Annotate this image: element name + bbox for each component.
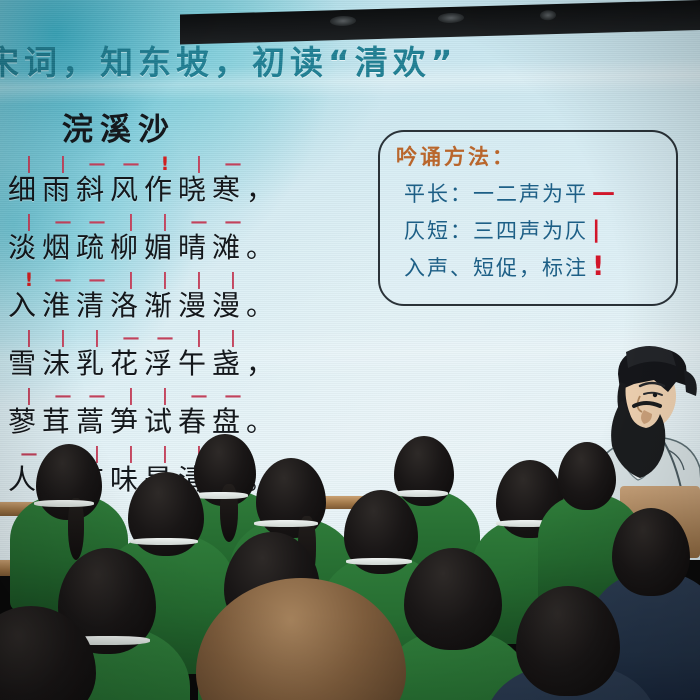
tone-mark: —	[182, 389, 216, 404]
tone-mark: |	[182, 273, 216, 288]
poem-line: | | — — ! | — 细雨斜风作晓寒，	[0, 155, 330, 213]
tone-mark: |	[114, 215, 148, 230]
tone-marks: | | — — ! | —	[6, 155, 330, 172]
tone-mark: —	[46, 273, 80, 288]
tone-mark: |	[216, 273, 250, 288]
collar	[254, 520, 318, 527]
tone-mark: !	[12, 273, 46, 288]
collar	[34, 500, 94, 507]
method-row-text: 平长：一二声为平	[404, 178, 588, 208]
tone-mark: |	[46, 157, 80, 172]
collar	[192, 492, 248, 499]
collar	[394, 490, 448, 497]
tone-mark: —	[114, 157, 148, 172]
tone-mark: |	[12, 389, 46, 404]
collar	[130, 538, 198, 545]
tone-mark: —	[46, 389, 80, 404]
tone-mark: |	[148, 215, 182, 230]
tone-marks: | — — | | — —	[6, 387, 330, 404]
tone-mark: |	[182, 157, 216, 172]
tone-mark: !	[148, 157, 182, 172]
tone-mark: —	[80, 389, 114, 404]
tone-mark: —	[216, 215, 250, 230]
poem-line: ! — — | | | | 入淮清洛渐漫漫。	[0, 271, 330, 329]
chanting-method-box: 吟诵方法： 平长：一二声为平 — 仄短：三四声为仄 | 入声、短促，标注 !	[378, 130, 678, 306]
tone-mark: |	[12, 215, 46, 230]
screenshot-root: 宋词，知东坡，初读“清欢” 浣溪沙 | | — — ! | — 细雨斜风作晓寒，…	[0, 0, 700, 700]
tone-mark: —	[80, 273, 114, 288]
poem-line: | — — | | — — 淡烟疏柳媚晴滩。	[0, 213, 330, 271]
collar	[346, 558, 412, 565]
tone-mark: —	[114, 331, 148, 346]
tone-mark: —	[182, 215, 216, 230]
method-row: 平长：一二声为平 —	[396, 174, 662, 211]
tone-mark: |	[148, 389, 182, 404]
tone-marks: ! — — | | | |	[6, 271, 330, 288]
method-box-title: 吟诵方法：	[396, 141, 662, 171]
student-head	[558, 442, 616, 510]
tone-mark: |	[148, 273, 182, 288]
poem-line-text: 淡烟疏柳媚晴滩。	[6, 230, 330, 266]
rusheng-mark-icon: !	[592, 251, 606, 282]
tone-mark: —	[80, 215, 114, 230]
tone-mark: |	[114, 273, 148, 288]
tone-mark: —	[216, 389, 250, 404]
method-row: 仄短：三四声为仄 |	[396, 211, 662, 248]
ceiling-light	[330, 16, 356, 27]
tone-mark: —	[216, 157, 250, 172]
tone-mark: —	[46, 215, 80, 230]
ze-mark-icon: |	[592, 217, 602, 243]
method-row: 入声、短促，标注 !	[396, 248, 662, 285]
slide-headline: 宋词，知东坡，初读“清欢”	[0, 36, 506, 84]
tone-mark: |	[80, 331, 114, 346]
tone-mark: |	[46, 331, 80, 346]
poem-title: 浣溪沙	[0, 104, 330, 149]
method-row-text: 仄短：三四声为仄	[404, 215, 588, 245]
ping-mark-icon: —	[592, 180, 617, 206]
student-head	[612, 508, 690, 596]
ponytail	[68, 498, 84, 560]
tone-marks: | — — | | — —	[6, 213, 330, 230]
ceiling-light	[438, 13, 464, 24]
poem-line: | | | — — | | 雪沫乳花浮午盏，	[0, 329, 330, 387]
poem-line-text: 细雨斜风作晓寒，	[6, 172, 330, 208]
classroom-foreground	[0, 430, 700, 700]
tone-mark: |	[114, 389, 148, 404]
tone-mark: —	[80, 157, 114, 172]
poem-line-text: 雪沫乳花浮午盏，	[6, 346, 330, 382]
poem-line-text: 入淮清洛渐漫漫。	[6, 288, 330, 324]
tone-mark: |	[216, 331, 250, 346]
tone-mark: —	[148, 331, 182, 346]
ceiling-light	[540, 10, 556, 20]
tone-mark: |	[12, 157, 46, 172]
tone-mark: |	[12, 331, 46, 346]
method-row-text: 入声、短促，标注	[404, 252, 588, 282]
tone-marks: | | | — — | |	[6, 329, 330, 346]
tone-mark: |	[182, 331, 216, 346]
